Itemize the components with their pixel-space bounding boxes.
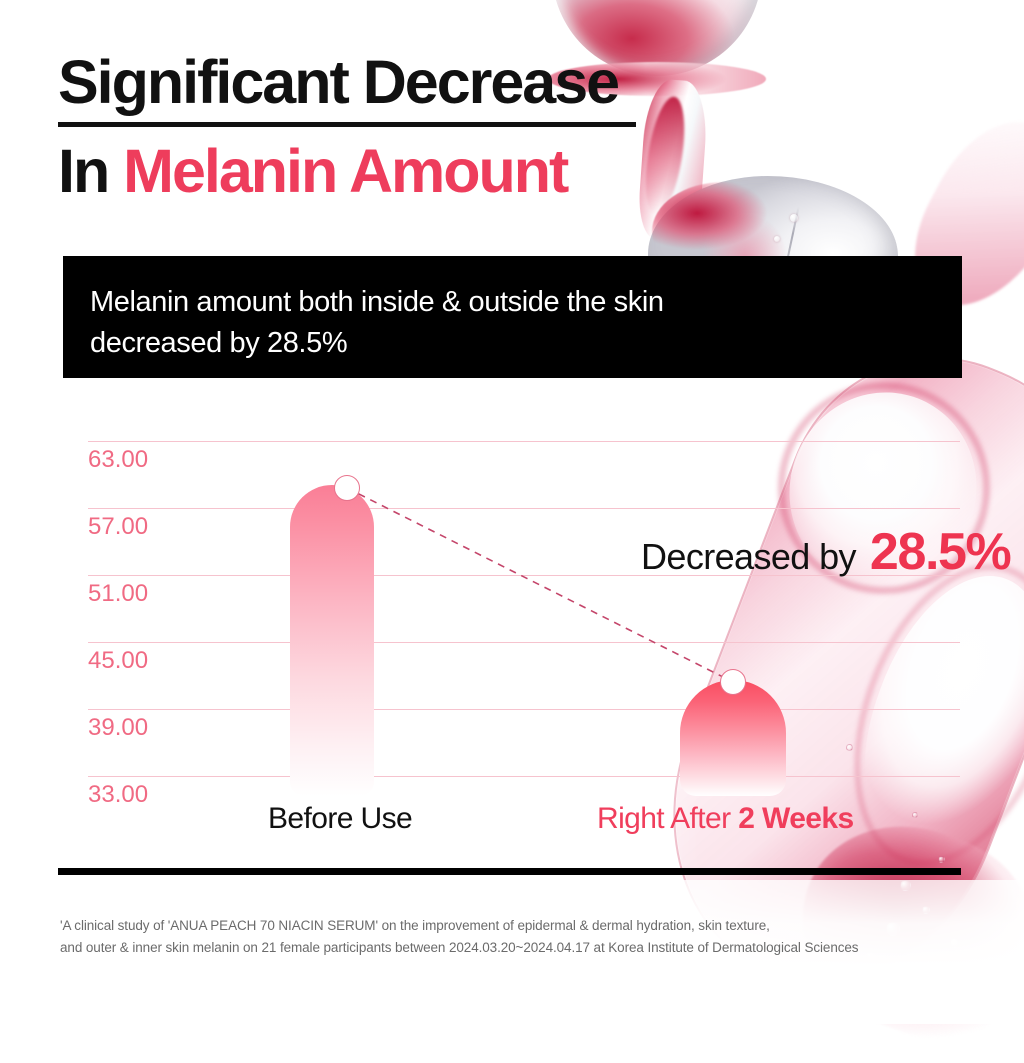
infographic-canvas: Significant Decrease In Melanin Amount M… — [0, 0, 1024, 1024]
headline-line-2-prefix: In — [58, 137, 123, 205]
melanin-bar-chart: 63.00 57.00 51.00 45.00 39.00 33.00 Decr… — [0, 396, 1024, 856]
category-label-after-lead: Right After — [597, 802, 738, 835]
category-label-after-strong: 2 Weeks — [738, 802, 853, 835]
headline-line-1: Significant Decrease — [58, 52, 778, 113]
footnote-line-1: 'A clinical study of 'ANUA PEACH 70 NIAC… — [60, 915, 990, 937]
page-title: Significant Decrease In Melanin Amount — [58, 52, 778, 202]
chart-plot-area: Decreased by 28.5% — [88, 396, 960, 796]
category-label-before-use: Before Use — [268, 802, 412, 836]
data-marker-before-use[interactable] — [334, 475, 360, 501]
decrease-callout-label: Decreased by — [641, 536, 856, 578]
statement-banner: Melanin amount both inside & outside the… — [63, 256, 962, 378]
headline-line-2-accent: Melanin Amount — [123, 137, 567, 205]
data-marker-right-after-2-weeks[interactable] — [720, 669, 746, 695]
infographic-content: Significant Decrease In Melanin Amount M… — [0, 0, 1024, 1024]
footnote-line-2: and outer & inner skin melanin on 21 fem… — [60, 937, 990, 959]
headline-underline — [58, 122, 636, 127]
footer-divider — [58, 868, 961, 875]
category-label-right-after-2-weeks: Right After 2 Weeks — [597, 802, 854, 836]
trend-connector-line — [88, 396, 960, 796]
headline-line-2: In Melanin Amount — [58, 141, 778, 202]
decrease-callout-value: 28.5% — [870, 522, 1010, 582]
trend-dashed-segment — [347, 488, 733, 682]
statement-banner-line-1: Melanin amount both inside & outside the… — [90, 282, 962, 323]
statement-banner-line-2: decreased by 28.5% — [90, 323, 962, 364]
decrease-callout: Decreased by 28.5% — [641, 522, 1010, 582]
footnote: 'A clinical study of 'ANUA PEACH 70 NIAC… — [60, 915, 990, 959]
